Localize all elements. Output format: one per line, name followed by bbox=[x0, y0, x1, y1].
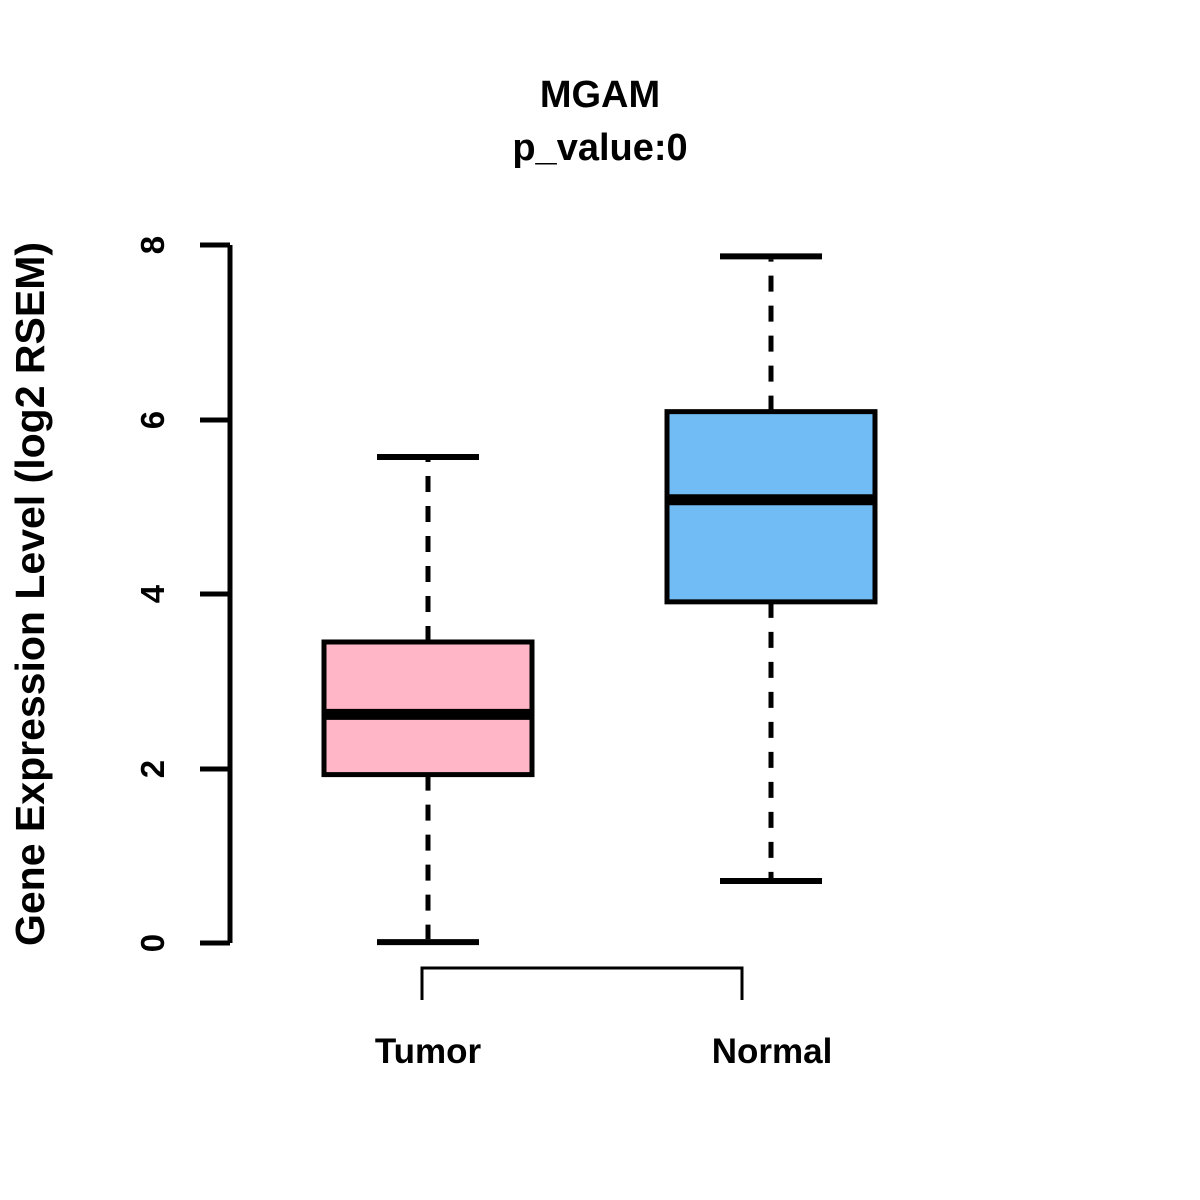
y-axis-title: Gene Expression Level (log2 RSEM) bbox=[7, 242, 53, 946]
chart-title: MGAM bbox=[540, 74, 660, 116]
chart-subtitle: p_value:0 bbox=[512, 127, 687, 169]
boxplot-canvas: MGAM p_value:0 Gene Expression Level (lo… bbox=[0, 0, 1200, 1200]
y-tick-label-4: 4 bbox=[134, 584, 171, 603]
box-group-tumor[interactable] bbox=[324, 457, 532, 942]
y-tick-label-6: 6 bbox=[134, 411, 171, 429]
y-tick-label-0: 0 bbox=[134, 934, 171, 952]
y-axis: 8 6 4 2 0 bbox=[134, 236, 230, 952]
x-label-normal: Normal bbox=[712, 1032, 833, 1071]
y-tick-label-8: 8 bbox=[134, 236, 171, 254]
x-axis-bracket bbox=[422, 968, 742, 1000]
x-axis bbox=[422, 968, 742, 1000]
box-tumor[interactable] bbox=[324, 642, 532, 775]
box-group-normal[interactable] bbox=[667, 256, 875, 881]
box-normal[interactable] bbox=[667, 412, 875, 602]
boxplot-figure: MGAM p_value:0 Gene Expression Level (lo… bbox=[0, 0, 1200, 1200]
x-label-tumor: Tumor bbox=[375, 1032, 482, 1071]
y-tick-label-2: 2 bbox=[134, 760, 171, 778]
